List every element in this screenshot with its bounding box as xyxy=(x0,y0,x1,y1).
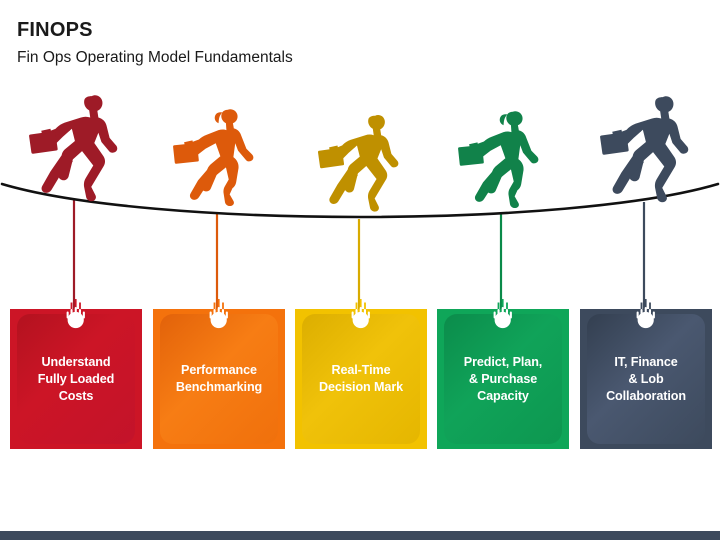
pillar-card-predict-plan-purchase-capacity[interactable]: Predict, Plan, & Purchase Capacity xyxy=(437,309,569,449)
pillar-card-understand-fully-loaded-costs[interactable]: Understand Fully Loaded Costs xyxy=(10,309,142,449)
footer-bar xyxy=(0,531,720,540)
pillar-card-real-time-decision-mark[interactable]: Real-Time Decision Mark xyxy=(295,309,427,449)
hand-icon xyxy=(490,299,516,329)
page-title: FINOPS xyxy=(17,19,93,42)
pillar-card-it-finance-lob-collaboration[interactable]: IT, Finance & Lob Collaboration xyxy=(580,309,712,449)
pillar-card-label: Performance Benchmarking xyxy=(159,309,279,449)
pillar-card-row: Understand Fully Loaded Costs Performanc… xyxy=(0,309,720,449)
pillar-card-label: IT, Finance & Lob Collaboration xyxy=(586,309,706,449)
pillar-card-performance-benchmarking[interactable]: Performance Benchmarking xyxy=(153,309,285,449)
pillar-card-label: Real-Time Decision Mark xyxy=(301,309,421,449)
tightrope-illustration xyxy=(0,0,720,540)
hand-icon xyxy=(206,299,232,329)
pillar-card-label: Predict, Plan, & Purchase Capacity xyxy=(443,309,563,449)
hand-icon xyxy=(63,299,89,329)
hand-icon xyxy=(633,299,659,329)
hand-icon xyxy=(348,299,374,329)
page-subtitle: Fin Ops Operating Model Fundamentals xyxy=(17,49,293,67)
pillar-card-label: Understand Fully Loaded Costs xyxy=(16,309,136,449)
